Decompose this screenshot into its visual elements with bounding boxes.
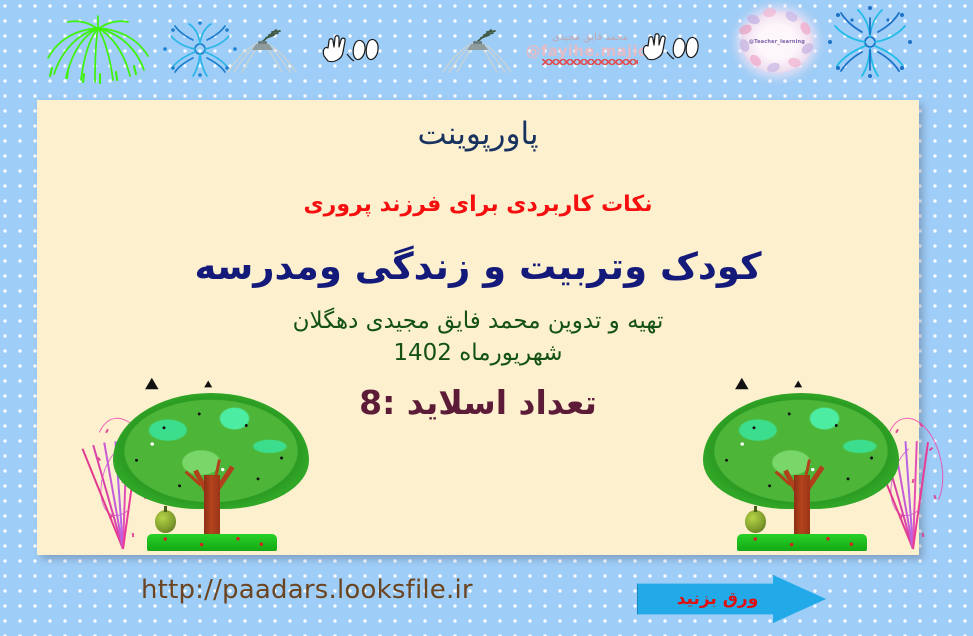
powerpoint-title: پاورپوینت bbox=[37, 116, 919, 152]
bird-icon: ⯅ bbox=[793, 379, 803, 392]
party-popper-left-icon bbox=[222, 26, 302, 76]
teacher-learning-badge: @Teacher_learning bbox=[741, 11, 813, 73]
main-title: کودک وتربیت و زندگی ومدرسه bbox=[37, 245, 919, 288]
tree-trunk bbox=[794, 475, 810, 537]
tree-fruit bbox=[155, 510, 176, 533]
badge-label: @Teacher_learning bbox=[749, 39, 805, 45]
blue-snowflake-firework-icon bbox=[155, 18, 245, 80]
watermark-squiggle bbox=[542, 59, 638, 65]
site-url[interactable]: http://paadars.looksfile.ir bbox=[141, 575, 473, 605]
tree-grass bbox=[737, 534, 867, 551]
green-firework-icon bbox=[38, 8, 158, 86]
slide-card: پاورپوینت نکات کاربردی برای فرزند پروری … bbox=[37, 100, 919, 555]
next-slide-label: ورق بزنید bbox=[677, 589, 759, 609]
tree-trunk bbox=[204, 475, 220, 537]
date-line: شهریورماه 1402 bbox=[37, 340, 919, 366]
bird-icon: ⯅ bbox=[143, 375, 161, 397]
red-subtitle: نکات کاربردی برای فرزند پروری bbox=[37, 192, 919, 217]
bird-icon: ⯅ bbox=[733, 375, 751, 397]
tree-right: ⯅ ⯅ bbox=[697, 375, 907, 555]
bird-icon: ⯅ bbox=[203, 379, 213, 392]
party-popper-right-icon bbox=[437, 26, 517, 76]
next-slide-button[interactable]: ورق بزنید bbox=[637, 575, 826, 623]
clapping-hands-left-icon bbox=[320, 32, 382, 68]
tree-left: ⯅ ⯅ bbox=[107, 375, 317, 555]
watermark-line-2: @fayihe.majidi bbox=[520, 44, 660, 60]
tree-grass bbox=[147, 534, 277, 551]
cyan-snowflake-firework-icon bbox=[822, 4, 918, 80]
author-line: تهیه و تدوین محمد فایق مجیدی دهگلان bbox=[37, 308, 919, 334]
tree-fruit bbox=[745, 510, 766, 533]
presentation-slide: محمد فایق مجیدی @fayihe.majidi @Teacher_… bbox=[0, 0, 973, 636]
watermark: محمد فایق مجیدی @fayihe.majidi bbox=[520, 33, 660, 85]
